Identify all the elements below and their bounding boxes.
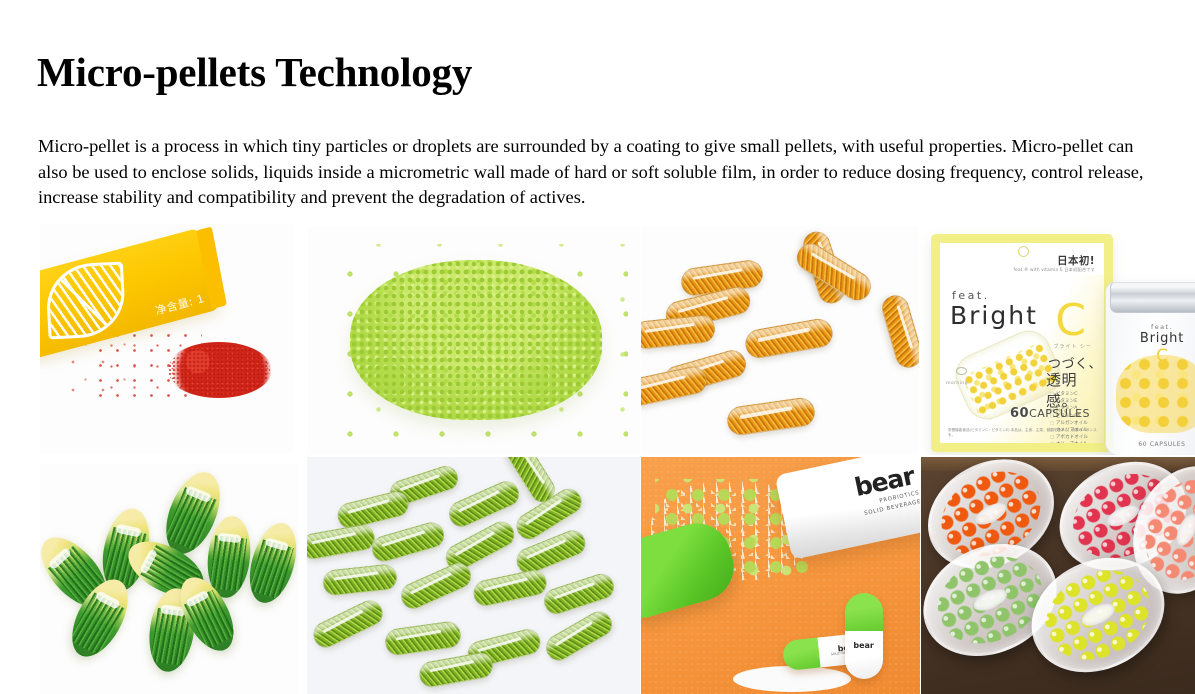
photo-bead-trays-canvas [921,457,1195,694]
softgel-highlight [115,524,141,537]
bottle-capsule-count: 60 CAPSULES [1106,441,1195,448]
photo-bear-probiotics-canvas: bear PROBIOTICS SOLID BEVERAGE bear SOLI… [641,457,920,694]
pouch-brand-letter: C [1055,299,1086,343]
bear-capsule-standing: bear [845,593,883,679]
softgel-highlight [185,485,212,503]
intro-paragraph: Micro-pellet is a process in which tiny … [38,134,1158,211]
photo-bead-trays [921,457,1195,694]
bright-c-bottle: feat. Bright C 60 CAPSULES [1105,282,1195,455]
capsule-green-half [845,593,883,633]
pouch-capsule-count: 60CAPSULES [1010,406,1090,421]
photo-green-pellet-pile [308,226,640,455]
capsule-highlight [484,578,528,592]
bright-c-pouch: 日本初! feat.® with vitamin E 日本初配合です feat.… [931,234,1113,452]
pouch-annotation-dot [956,367,967,375]
photo-green-capsules [307,457,640,694]
pouch-capsule-count-number: 60 [1010,406,1029,421]
capsule-highlight [693,268,742,280]
capsule-highlight [382,531,425,548]
photo-sachet-red-pellets-canvas: 净含量: 1 [40,224,293,453]
photo-green-softgels [40,464,298,694]
leaf-veins [48,265,123,337]
pouch-japan-first-label: 日本初! [1057,253,1095,268]
ingredient-item: ビタミンE [1050,398,1113,405]
softgel-highlight [95,591,121,610]
softgel-highlight [264,537,289,551]
ingredient-item: ビタミンC [1050,391,1113,398]
photo-green-softgels-canvas [40,464,298,694]
photo-green-capsules-canvas [307,457,640,694]
capsule-highlight [740,406,793,419]
ingredient-item: オリーブオイル [1050,441,1113,448]
capsule-highlight [641,375,686,390]
green-pellet-pile [350,260,602,420]
softgel-highlight [139,549,158,575]
photo-sachet-red-pellets: 净含量: 1 [40,224,293,453]
capsule-highlight [334,572,379,581]
pouch-brand-name: Bright [950,301,1038,330]
capsule-highlight [430,660,474,672]
capsule-white-half [845,631,883,679]
bear-capsule-brand: bear [853,641,874,650]
pouch-annotation-morning: morning [946,381,968,386]
photo-green-pellet-pile-canvas [308,226,640,455]
softgel-highlight [217,533,241,544]
pouch-japan-first-subtext: feat.® with vitamin E 日本初配合です [1014,267,1096,273]
pouch-footnote: 栄養機能食品(ビタミンC・ビタミンE) 本品は、主食、主菜、副菜を基本に、食事の… [948,428,1098,438]
image-grid: 净含量: 1 日本初 [0,208,1195,670]
pouch-hang-hole [1018,246,1029,257]
page-title: Micro-pellets Technology [37,49,472,96]
red-pellet-pile [166,342,272,398]
capsule-highlight [312,532,356,544]
bear-tube: bear PROBIOTICS SOLID BEVERAGE [775,457,920,560]
photo-bear-probiotics: bear PROBIOTICS SOLID BEVERAGE bear SOLI… [641,457,920,694]
photo-orange-capsules-canvas [641,226,919,455]
pouch-capsule-count-unit: CAPSULES [1029,407,1090,420]
photo-bright-c-package: 日本初! feat.® with vitamin E 日本初配合です feat.… [921,224,1195,455]
photo-orange-capsules [641,226,919,455]
pouch-front-panel: feat. Bright C ブライト シー morning evening つ… [940,275,1104,443]
capsule-highlight [347,499,390,514]
pouch-brand-kana: ブライト シー [1053,343,1092,350]
capsule-highlight [677,296,728,314]
capsule-highlight [396,629,442,640]
bottle-cap [1110,282,1195,313]
photo-bright-c-canvas: 日本初! feat.® with vitamin E 日本初配合です feat.… [921,224,1195,455]
softgel-highlight [185,589,210,607]
bottle-brand-name: Bright [1112,331,1195,346]
bottle-brand-prefix: feat. [1112,323,1195,331]
sachet-net-weight-label: 净含量: 1 [153,290,206,318]
leaf-icon [45,262,127,340]
bottle-capsule-contents [1116,355,1195,433]
capsule-highlight [478,637,522,652]
capsule-highlight [645,323,695,333]
capsule-highlight [757,327,810,342]
softgel-highlight [48,547,72,570]
